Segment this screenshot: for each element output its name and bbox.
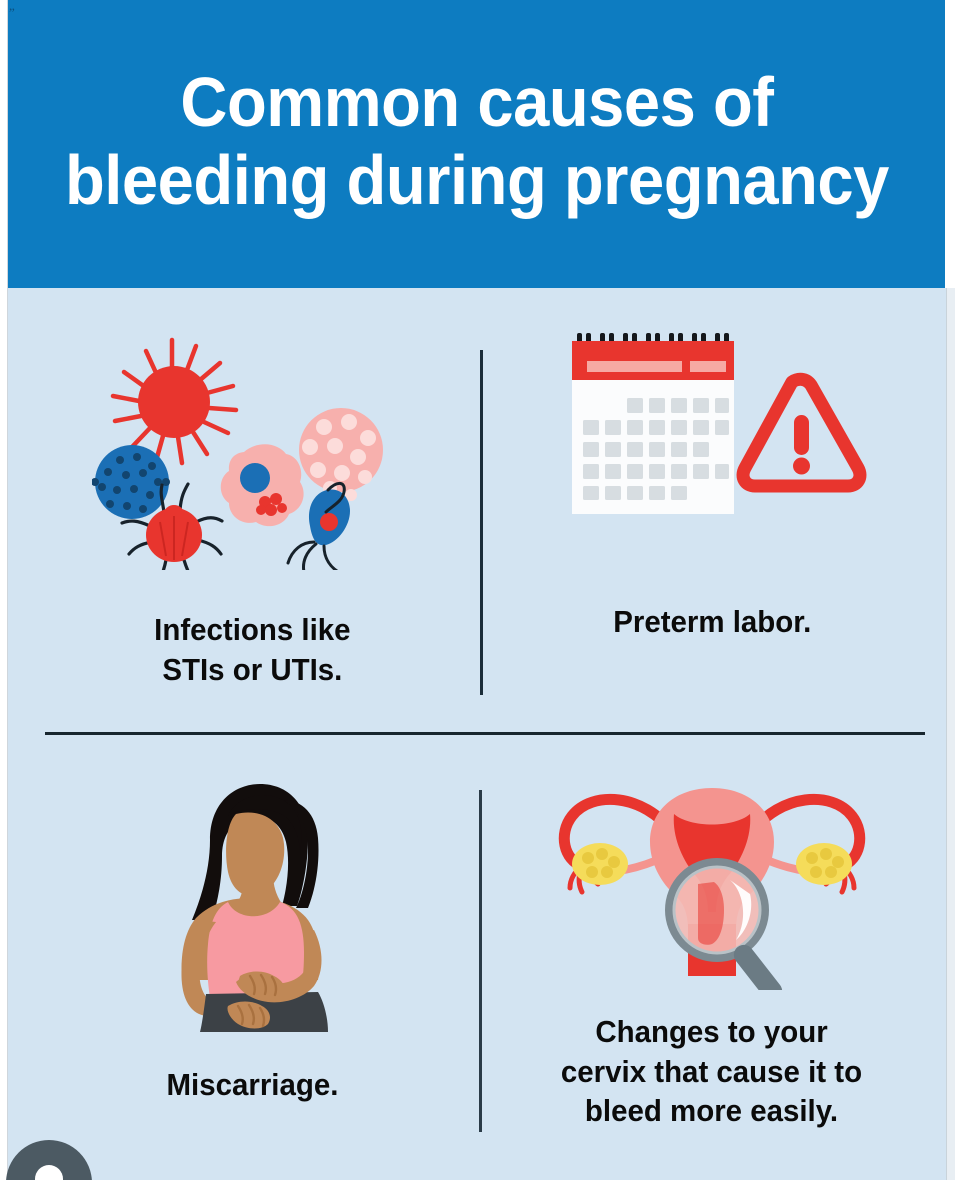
uterus-with-magnifier-illustration — [552, 780, 872, 990]
corner-artifact-mark: „ — [9, 0, 19, 14]
coronavirus-icon — [113, 340, 236, 463]
woman-holding-abdomen-illustration — [132, 780, 372, 1035]
avatar-head-shape — [35, 1165, 63, 1180]
woman-abdominal-pain-icon — [182, 784, 328, 1032]
divider-vertical-top — [480, 350, 483, 695]
cause-card-infections: Infections like STIs or UTIs. — [52, 330, 452, 689]
right-rail-line — [946, 288, 947, 1180]
calendar-with-warning-illustration — [552, 330, 872, 530]
divider-vertical-bottom — [479, 790, 482, 1132]
pink-bumpy-microbe-icon — [299, 408, 383, 501]
infographic-page: Common causes of bleeding during pregnan… — [0, 0, 955, 1180]
cause-label-infections: Infections like STIs or UTIs. — [154, 610, 350, 689]
header-banner: Common causes of bleeding during pregnan… — [8, 0, 945, 288]
left-gutter-line — [7, 0, 8, 1180]
germs-cluster-illustration — [92, 330, 412, 570]
cause-label-preterm: Preterm labor. — [613, 602, 811, 642]
cause-card-preterm: Preterm labor. — [512, 330, 912, 642]
cause-label-cervix: Changes to your cervix that cause it to … — [561, 1012, 862, 1131]
cause-label-miscarriage: Miscarriage. — [166, 1065, 338, 1105]
cause-card-cervix: Changes to your cervix that cause it to … — [512, 780, 912, 1131]
warning-triangle-icon — [743, 379, 860, 486]
calendar-icon — [572, 341, 734, 514]
right-rail — [946, 288, 955, 1180]
blue-dotted-microbe-icon — [92, 445, 170, 519]
cause-card-miscarriage: Miscarriage. — [52, 780, 452, 1105]
amoeba-cell-icon — [221, 444, 304, 526]
page-title: Common causes of bleeding during pregnan… — [65, 63, 889, 226]
divider-horizontal — [45, 732, 925, 735]
